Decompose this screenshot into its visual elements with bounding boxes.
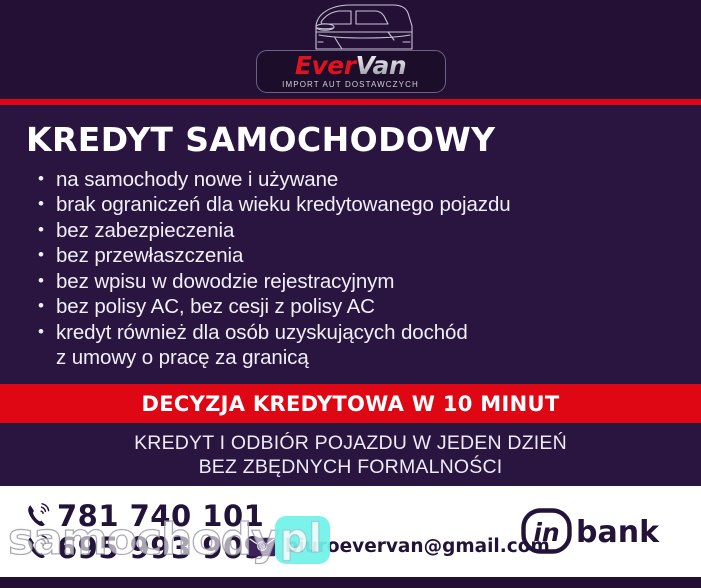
list-item: bez wpisu w dowodzie rejestracyjnym: [38, 269, 701, 295]
list-item: kredyt również dla osób uzyskujących doc…: [38, 320, 701, 346]
svg-text:bank: bank: [576, 515, 660, 550]
decision-banner: DECYZJA KREDYTOWA W 10 MINUT: [0, 384, 701, 423]
inbank-partner-logo[interactable]: in bank: [521, 506, 673, 556]
inbank-logo-mark: in bank: [521, 506, 673, 556]
list-item: bez zabezpieczenia: [38, 218, 701, 244]
van-line-art-icon: [275, 2, 427, 52]
page-title: KREDYT SAMOCHODOWY: [0, 105, 701, 159]
header-logo-area: EverVan IMPORT AUT DOSTAWCZYCH: [0, 0, 701, 99]
decision-banner-text: DECYZJA KREDYTOWA W 10 MINUT: [142, 392, 560, 416]
evervan-logo[interactable]: EverVan IMPORT AUT DOSTAWCZYCH: [0, 2, 701, 93]
svg-text:in: in: [533, 518, 559, 547]
list-item: na samochody nowe i używane: [38, 167, 701, 193]
list-item: bez przewłaszczenia: [38, 243, 701, 269]
logo-plate: EverVan IMPORT AUT DOSTAWCZYCH: [256, 50, 446, 93]
phone-number-primary: 781 740 101: [57, 501, 264, 531]
email-contact[interactable]: @ biuroevervan@gmail.com: [248, 536, 550, 557]
phone-row-primary[interactable]: 781 740 101: [26, 501, 264, 531]
email-address: biuroevervan@gmail.com: [285, 536, 550, 557]
logo-word-van: Van: [356, 51, 407, 80]
logo-wordmark: EverVan: [295, 53, 406, 78]
phone-row-secondary[interactable]: 695 993 909: [26, 533, 264, 563]
logo-tagline: IMPORT AUT DOSTAWCZYCH: [282, 80, 419, 89]
phone-number-secondary: 695 993 909: [57, 533, 264, 563]
main-content: KREDYT SAMOCHODOWY na samochody nowe i u…: [0, 105, 701, 384]
list-item-continuation: z umowy o pracę za granicą: [38, 345, 701, 371]
envelope-at-icon: @: [248, 537, 276, 557]
advert-poster: EverVan IMPORT AUT DOSTAWCZYCH KREDYT SA…: [0, 0, 701, 588]
footer-contact-bar: 781 740 101 695 993 909 @ biuroevervan@g…: [0, 486, 701, 577]
list-item: bez polisy AC, bez cesji z polisy AC: [38, 294, 701, 320]
benefits-list: na samochody nowe i używane brak ogranic…: [0, 167, 701, 371]
sub-banner-line-1: KREDYT I ODBIÓR POJAZDU W JEDEN DZIEŃ: [134, 431, 567, 455]
logo-word-ever: Ever: [295, 51, 356, 80]
svg-text:@: @: [259, 543, 266, 551]
phone-icon: [26, 535, 50, 561]
phone-icon: [26, 503, 50, 529]
sub-banner-line-2: BEZ ZBĘDNYCH FORMALNOŚCI: [199, 455, 503, 479]
list-item: brak ograniczeń dla wieku kredytowanego …: [38, 192, 701, 218]
contact-phone-group: 781 740 101 695 993 909: [0, 501, 264, 563]
sub-banner: KREDYT I ODBIÓR POJAZDU W JEDEN DZIEŃ BE…: [0, 423, 701, 486]
